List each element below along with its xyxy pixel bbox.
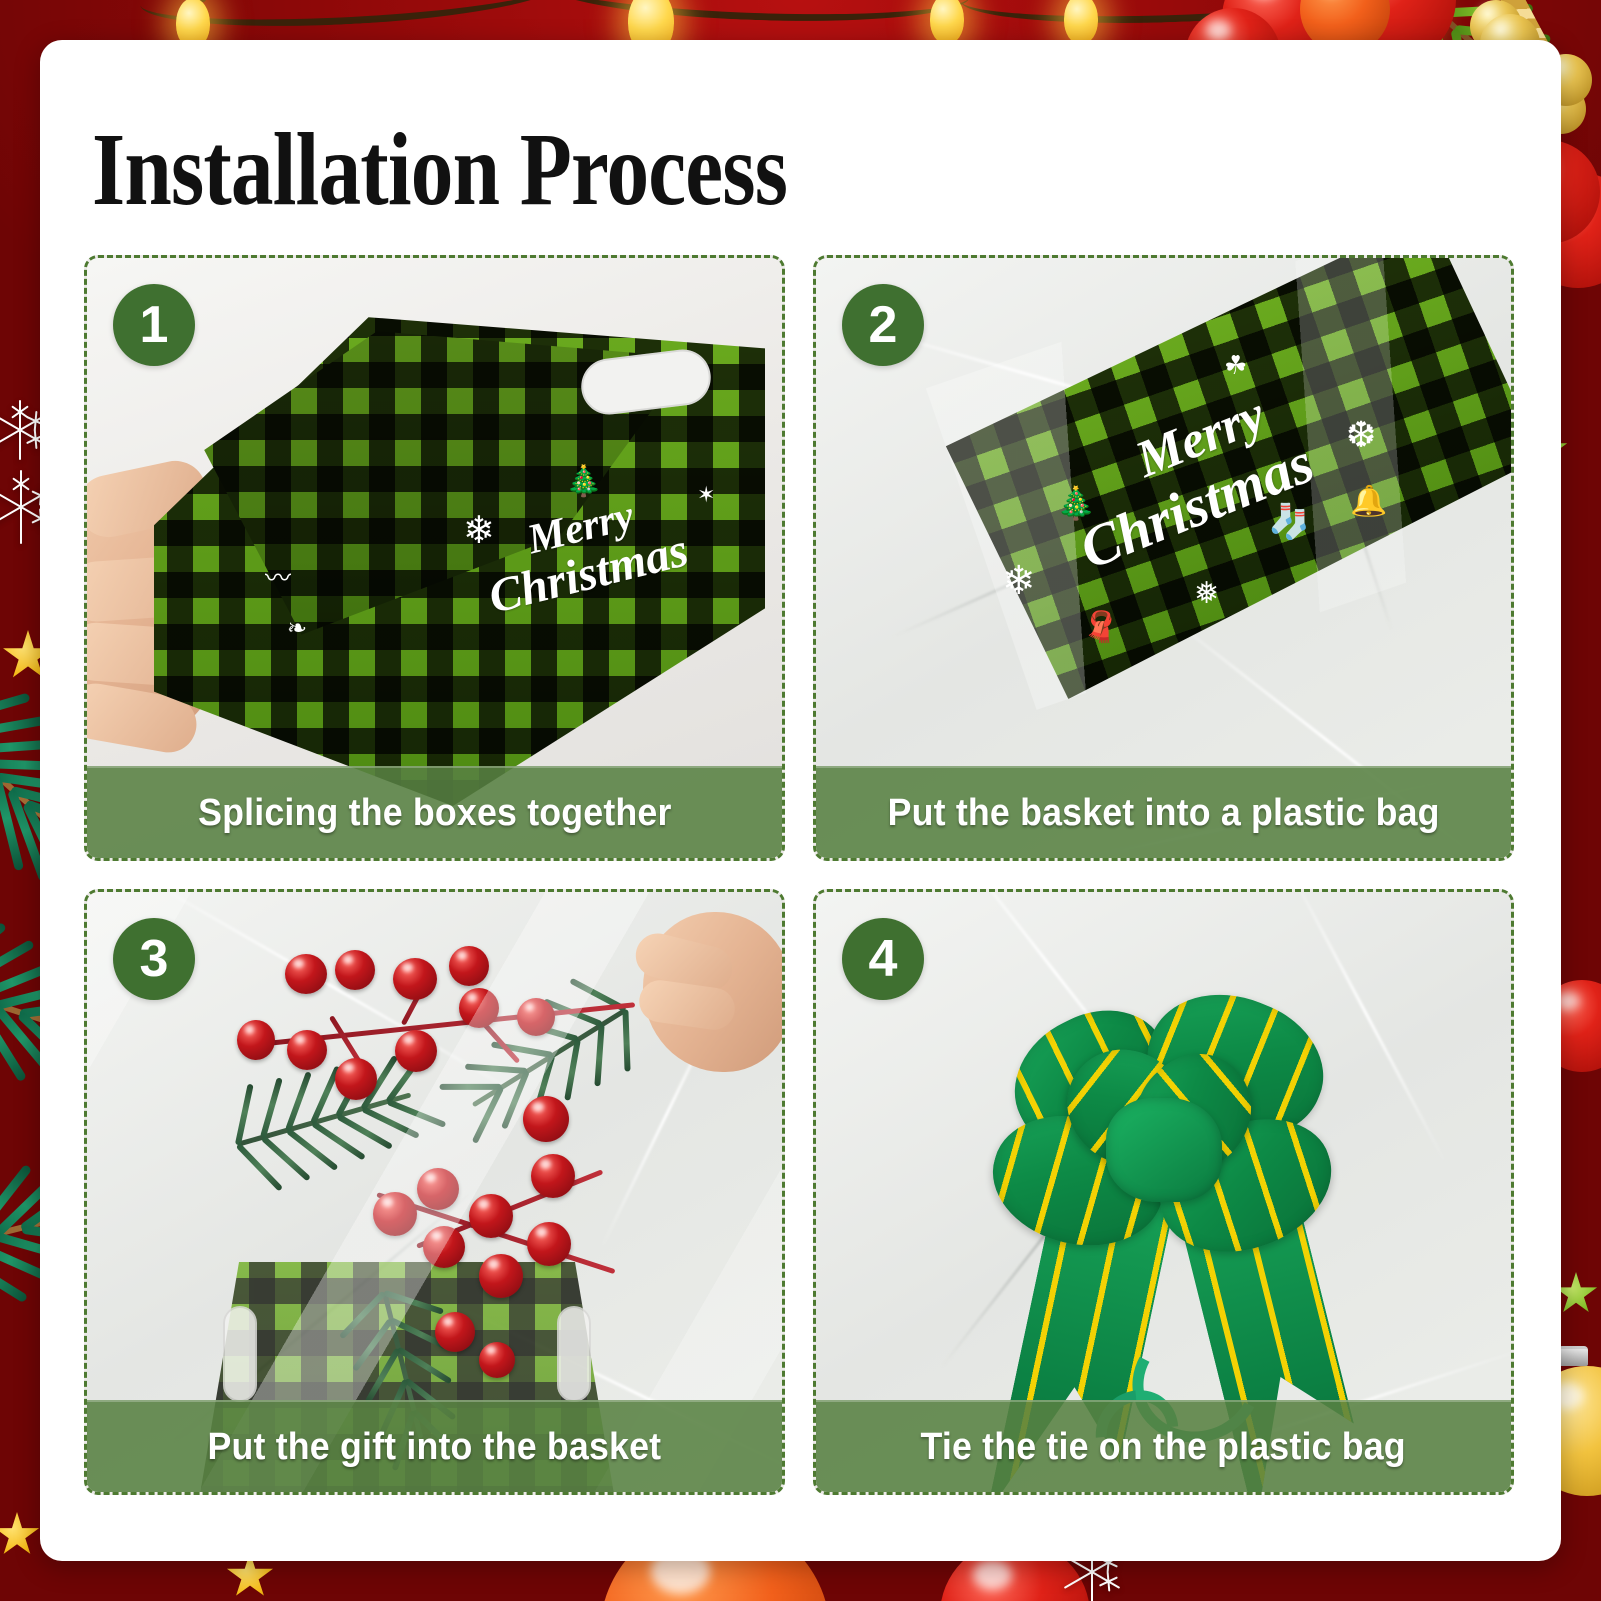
step-caption-bar: Splicing the boxes together — [87, 766, 782, 858]
swirl-icon: ❧ — [287, 614, 307, 643]
snowflake-icon: ❄ — [1002, 558, 1036, 604]
sparkle-icon: ✶ — [697, 482, 715, 508]
step-caption-text: Put the gift into the basket — [208, 1426, 662, 1469]
step-caption-bar: Put the basket into a plastic bag — [816, 766, 1511, 858]
step-caption-text: Tie the tie on the plastic bag — [921, 1426, 1406, 1469]
holly-icon: ☘ — [1224, 350, 1247, 381]
snowflake-icon: ❅ — [1194, 576, 1219, 611]
step-panel-4[interactable]: 4 Tie the tie on the plastic bag — [813, 889, 1514, 1495]
bell-icon: 🔔 — [1350, 484, 1387, 519]
basket-handle-slot — [557, 1306, 591, 1402]
snowflake-icon: ❆ — [1346, 414, 1376, 456]
festive-backdrop: Installation Process — [0, 0, 1601, 1601]
gold-star-icon — [0, 1512, 40, 1558]
step-number-badge: 2 — [842, 284, 924, 366]
tree-icon: 🎄 — [1056, 484, 1096, 522]
step-panel-3[interactable]: 3 Put the gift into the basket — [84, 889, 785, 1495]
step-caption-text: Put the basket into a plastic bag — [887, 792, 1439, 835]
step-caption-bar: Tie the tie on the plastic bag — [816, 1400, 1511, 1492]
scarf-icon: 🧣 — [1082, 610, 1119, 645]
step-number-badge: 4 — [842, 918, 924, 1000]
step-caption-bar: Put the gift into the basket — [87, 1400, 782, 1492]
step-panel-2[interactable]: Merry Christmas ❄ ❅ ❆ 🎄 ☘ 🧦 🔔 🧣 2 Put th… — [813, 255, 1514, 861]
basket-handle-slot — [223, 1306, 257, 1402]
step-panel-1[interactable]: Merry Christmas ❄ 🎄 ✶ 〰 ❧ 1 Splicing the… — [84, 255, 785, 861]
bow-knot — [1106, 1098, 1222, 1202]
step-caption-text: Splicing the boxes together — [198, 792, 671, 835]
step-number-badge: 1 — [113, 284, 195, 366]
page-title: Installation Process — [92, 118, 787, 222]
tree-icon: 🎄 — [565, 464, 602, 499]
step-number-badge: 3 — [113, 918, 195, 1000]
stocking-icon: 🧦 — [1268, 502, 1310, 542]
content-card: Installation Process — [40, 40, 1561, 1561]
swirl-icon: 〰 — [265, 558, 291, 595]
snowflake-icon: ❄ — [463, 508, 495, 553]
steps-grid: Merry Christmas ❄ 🎄 ✶ 〰 ❧ 1 Splicing the… — [84, 255, 1514, 1495]
